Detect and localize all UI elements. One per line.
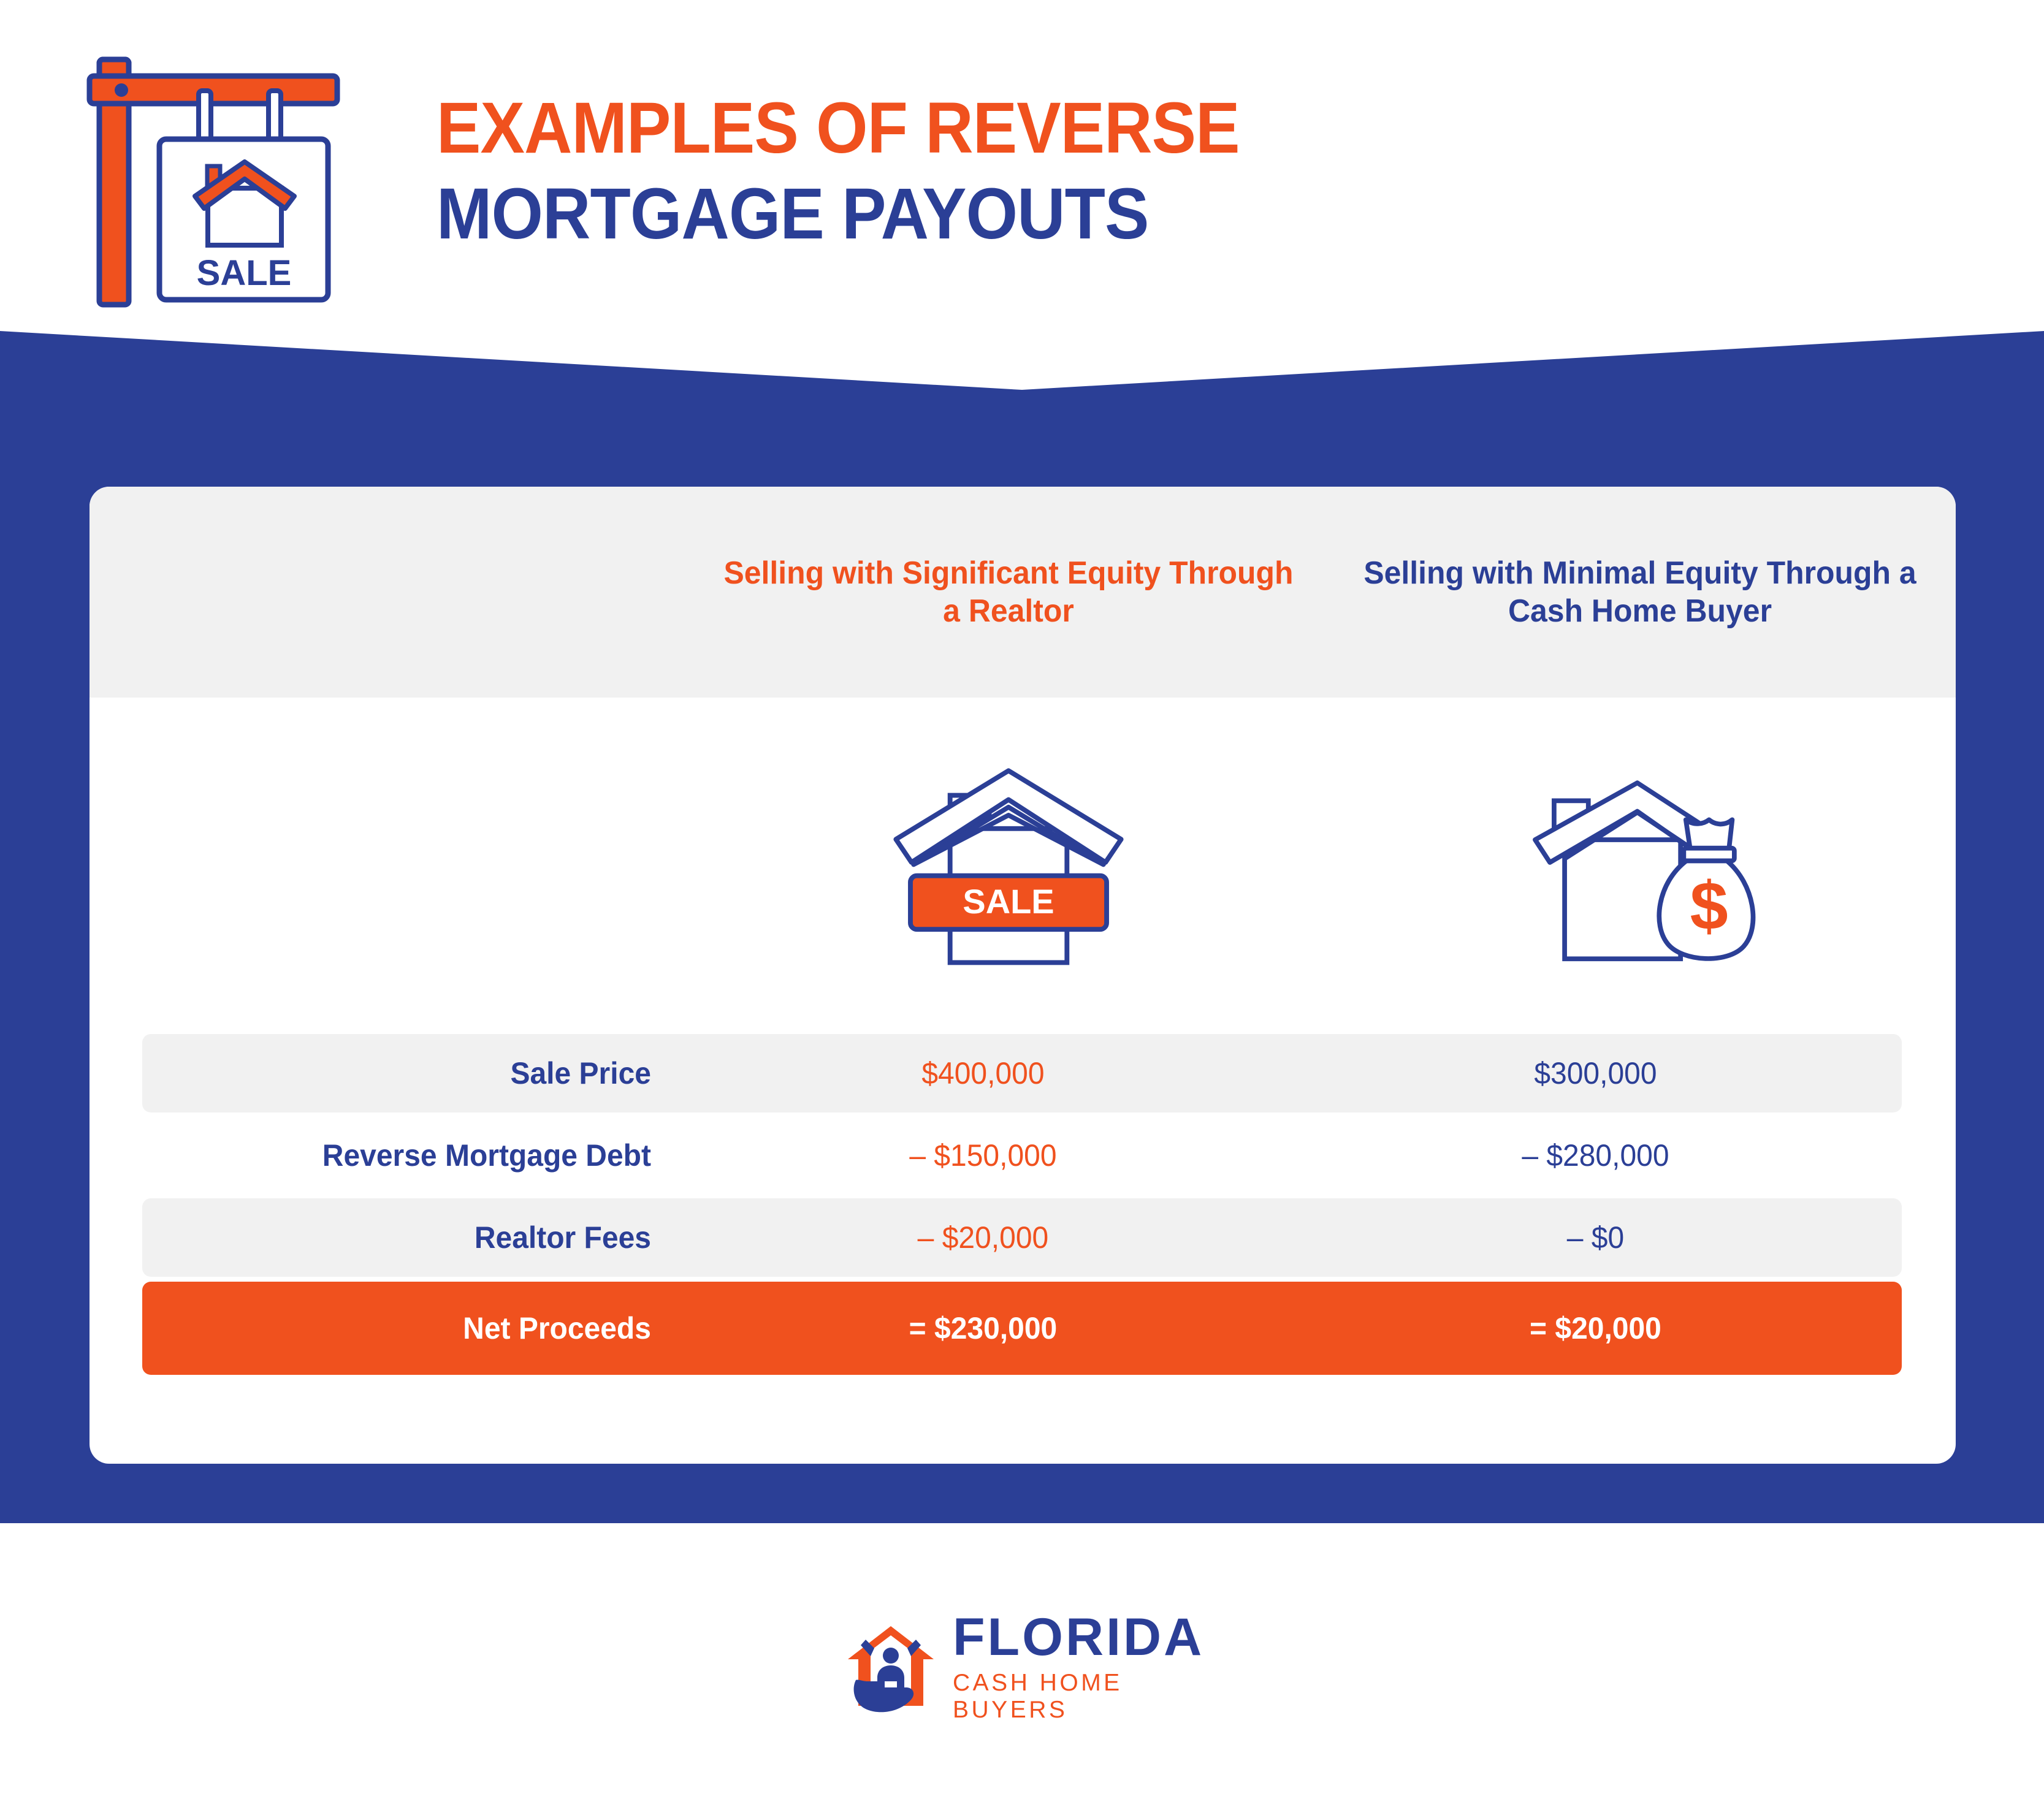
row-value-cash-buyer: – $280,000 — [1302, 1138, 1890, 1173]
row-value-realtor: $400,000 — [689, 1055, 1277, 1091]
page-header: SALE EXAMPLES OF REVERSE MORTGAGE PAYOUT… — [0, 0, 2044, 334]
row-value-cash-buyer: = $20,000 — [1302, 1310, 1890, 1346]
table-header-blank — [102, 487, 681, 698]
page-footer: FLORIDA CASH HOME BUYERS — [0, 1523, 2044, 1799]
row-value-cash-buyer: $300,000 — [1302, 1055, 1890, 1091]
sale-badge-label: SALE — [963, 881, 1054, 920]
for-sale-sign-icon: SALE — [86, 38, 343, 314]
table-row: Realtor Fees – $20,000 – $0 — [142, 1198, 1902, 1277]
table-icon-row: SALE $ — [90, 698, 1956, 1034]
dollar-sign-glyph: $ — [1690, 867, 1728, 944]
table-row-total: Net Proceeds = $230,000 = $20,000 — [142, 1282, 1902, 1375]
table-row: Reverse Mortgage Debt – $150,000 – $280,… — [142, 1116, 1902, 1195]
table-header-row: Selling with Significant Equity Through … — [90, 487, 1956, 698]
sale-sign-label: SALE — [197, 253, 292, 293]
comparison-table-card: Selling with Significant Equity Through … — [90, 487, 1956, 1464]
row-value-realtor: = $230,000 — [689, 1310, 1277, 1346]
page-title: EXAMPLES OF REVERSE MORTGAGE PAYOUTS — [437, 92, 1785, 250]
house-with-money-bag-icon: $ — [1324, 698, 1956, 1034]
row-value-realtor: – $20,000 — [689, 1220, 1277, 1255]
table-header-realtor: Selling with Significant Equity Through … — [706, 487, 1312, 698]
row-label: Realtor Fees — [164, 1220, 677, 1255]
title-line-secondary: MORTGAGE PAYOUTS — [437, 178, 1677, 250]
brand-wordmark: FLORIDA CASH HOME BUYERS — [953, 1611, 1237, 1724]
brand-logo: FLORIDA CASH HOME BUYERS — [845, 1621, 1237, 1713]
row-value-realtor: – $150,000 — [689, 1138, 1277, 1173]
row-label: Reverse Mortgage Debt — [164, 1138, 677, 1173]
table-header-cash-buyer: Selling with Minimal Equity Through a Ca… — [1337, 487, 1943, 698]
house-with-sale-sign-icon: SALE — [693, 698, 1324, 1034]
title-line-primary: EXAMPLES OF REVERSE — [437, 92, 1677, 164]
house-hand-person-icon — [845, 1621, 937, 1713]
row-value-cash-buyer: – $0 — [1302, 1220, 1890, 1255]
row-label: Net Proceeds — [164, 1310, 677, 1346]
brand-name: FLORIDA — [953, 1611, 1237, 1664]
table-row: Sale Price $400,000 $300,000 — [142, 1034, 1902, 1112]
icon-row-blank — [90, 698, 693, 1034]
table-body: Sale Price $400,000 $300,000 Reverse Mor… — [90, 1034, 1956, 1402]
row-label: Sale Price — [164, 1055, 677, 1091]
brand-tagline: CASH HOME BUYERS — [953, 1670, 1237, 1724]
